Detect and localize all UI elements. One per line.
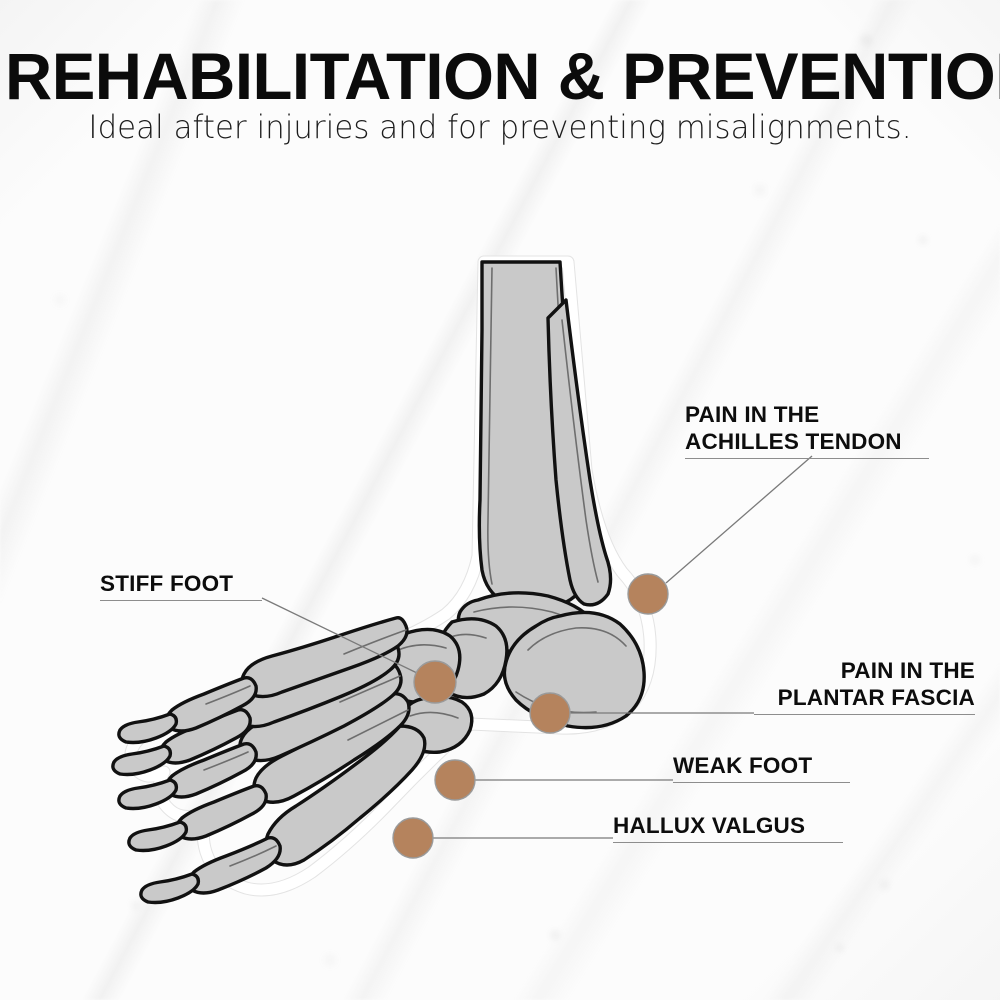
callout-pain-plantar-fascia[interactable]: PAIN IN THEPLANTAR FASCIA xyxy=(754,657,975,715)
marker-pain-plantar-fascia[interactable] xyxy=(530,693,570,733)
callout-stiff-foot[interactable]: STIFF FOOT xyxy=(100,570,262,601)
callout-pain-plantar-fascia-line-2: PLANTAR FASCIA xyxy=(754,684,975,711)
marker-pain-achilles-tendon[interactable] xyxy=(628,574,668,614)
marker-weak-foot[interactable] xyxy=(435,760,475,800)
marker-hallux-valgus[interactable] xyxy=(393,818,433,858)
infographic-page: REHABILITATION & PREVENTION Ideal after … xyxy=(0,0,1000,1000)
foot-skeleton-illustration: .bone { fill: #c9c9c9; stroke: #111111; … xyxy=(0,0,1000,1000)
callout-weak-foot-underline xyxy=(673,782,850,783)
callout-pain-achilles-tendon-underline xyxy=(685,458,929,459)
marker-stiff-foot[interactable] xyxy=(414,661,456,703)
callout-weak-foot[interactable]: WEAK FOOT xyxy=(673,752,850,783)
callout-hallux-valgus[interactable]: HALLUX VALGUS xyxy=(613,812,843,843)
callout-pain-achilles-tendon-line-2: ACHILLES TENDON xyxy=(685,428,929,455)
leader-line-pain-achilles-tendon xyxy=(666,456,812,583)
callout-pain-plantar-fascia-underline xyxy=(754,714,975,715)
callout-pain-plantar-fascia-line-1: PAIN IN THE xyxy=(754,657,975,684)
callout-stiff-foot-underline xyxy=(100,600,262,601)
callout-pain-achilles-tendon[interactable]: PAIN IN THEACHILLES TENDON xyxy=(685,401,929,459)
callout-hallux-valgus-line-1: HALLUX VALGUS xyxy=(613,812,843,839)
callout-pain-achilles-tendon-line-1: PAIN IN THE xyxy=(685,401,929,428)
callout-stiff-foot-line-1: STIFF FOOT xyxy=(100,570,262,597)
callout-weak-foot-line-1: WEAK FOOT xyxy=(673,752,850,779)
callout-hallux-valgus-underline xyxy=(613,842,843,843)
